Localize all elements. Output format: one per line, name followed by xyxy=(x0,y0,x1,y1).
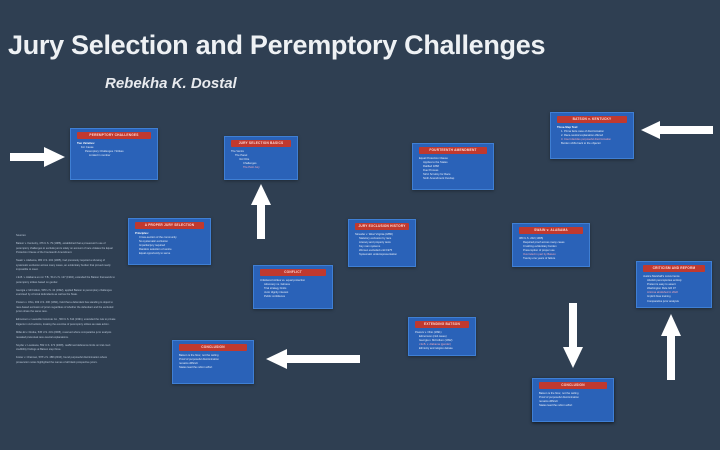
sources-text-block: Sources: Batson v. Kentucky, 476 U.S. 79… xyxy=(16,234,116,369)
card-line: The Petit Jury xyxy=(231,166,292,170)
sources-paragraph: Swain v. Alabama, 380 U.S. 202 (1965), h… xyxy=(16,259,116,273)
card-jury-selection-basics[interactable]: JURY SELECTION BASICS The VenireThe Pane… xyxy=(224,136,298,180)
card-swain-v-alabama[interactable]: SWAIN v. ALABAMA 380 U.S. 202 (1965)Requ… xyxy=(512,223,590,267)
card-title: CONCLUSION xyxy=(539,382,607,389)
author-name: Rebekha K. Dostal xyxy=(105,75,237,92)
arrow-into-peremptory-challenges xyxy=(10,146,66,168)
arrow-into-conflict xyxy=(265,348,361,370)
card-body: The VenireThe PanelVoir DireChallengesTh… xyxy=(225,149,297,174)
card-title: FOURTEENTH AMENDMENT xyxy=(419,147,487,154)
sources-paragraph: Batson v. Kentucky, 476 U.S. 79 (1986), … xyxy=(16,242,116,256)
card-body: Equal Protection ClauseApplies to the St… xyxy=(413,156,493,185)
card-title: CONCLUSION xyxy=(179,344,247,351)
card-batson-v-kentucky[interactable]: BATSON v. KENTUCKY Three-Step Test:1. Pr… xyxy=(550,112,634,159)
presentation-canvas[interactable]: Jury Selection and Peremptory Challenges… xyxy=(0,0,720,450)
card-body: 380 U.S. 202 (1965)Required proof across… xyxy=(513,236,589,265)
card-line: Comparative juror analysis xyxy=(643,300,706,304)
card-body: Strauder v. West Virginia (1880)Statutor… xyxy=(349,232,415,261)
card-title: CRITICISM AND REFORM xyxy=(643,265,705,272)
card-conflict[interactable]: CONFLICT Unfettered strikes vs. equal pr… xyxy=(253,265,333,309)
sources-paragraph: Snyder v. Louisiana, 552 U.S. 472 (2008)… xyxy=(16,344,116,353)
card-body: Batson is the floor, not the ceilingProo… xyxy=(173,353,253,374)
card-body: Justice Marshall's concurrenceAbolish pe… xyxy=(637,274,711,307)
sources-paragraph: Foster v. Chatman, 578 U.S. 488 (2016), … xyxy=(16,356,116,365)
sources-paragraph: J.E.B. v. Alabama ex rel. T.B., 511 U.S.… xyxy=(16,276,116,285)
arrow-up-to-jury-selection-basics xyxy=(250,184,272,240)
card-line: Public confidence xyxy=(260,295,327,299)
card-criticism-and-reform[interactable]: CRITICISM AND REFORM Justice Marshall's … xyxy=(636,261,712,308)
sources-heading: Sources: xyxy=(16,234,116,239)
card-line: Ethnicity and religion debate xyxy=(415,347,470,351)
arrow-up-to-criticism-and-reform xyxy=(660,313,682,381)
sources-paragraph: Georgia v. McCollum, 505 U.S. 42 (1992),… xyxy=(16,289,116,298)
card-title: BATSON v. KENTUCKY xyxy=(557,116,627,123)
arrow-into-batson-v-kentucky xyxy=(640,120,714,140)
card-body: Powers v. Ohio (1991)Edmonson (civil cas… xyxy=(409,330,475,355)
card-title: A PROPER JURY SELECTION xyxy=(135,222,204,229)
card-title: EXTENDING BATSON xyxy=(415,321,469,328)
card-body: Unfettered strikes vs. equal protectionA… xyxy=(254,278,332,303)
card-jury-exclusion-history[interactable]: JURY EXCLUSION HISTORY Strauder v. West … xyxy=(348,219,416,267)
card-body: Three-Step Test:1. Prima facie case of d… xyxy=(551,125,633,150)
card-line: Sixth Amendment Overlap xyxy=(419,177,488,181)
page-title: Jury Selection and Peremptory Challenges xyxy=(8,30,545,61)
card-body: Two Varieties:For CausePeremptory Challe… xyxy=(71,141,157,162)
card-line: Burden shifts back to the objector xyxy=(557,142,628,146)
card-body: Principles:Cross-section of the communit… xyxy=(129,231,210,260)
card-line: Twenty-one years of failure xyxy=(519,257,584,261)
card-fourteenth-amendment[interactable]: FOURTEENTH AMENDMENT Equal Protection Cl… xyxy=(412,143,494,190)
sources-paragraph: Powers v. Ohio, 499 U.S. 400 (1991), hel… xyxy=(16,301,116,315)
card-title: PEREMPTORY CHALLENGES xyxy=(77,132,151,139)
card-title: CONFLICT xyxy=(260,269,326,276)
card-line: States lead the reform effort xyxy=(539,404,608,408)
sources-paragraph: Edmonson v. Leesville Concrete Co., 500 … xyxy=(16,318,116,327)
card-title: JURY EXCLUSION HISTORY xyxy=(355,223,409,230)
arrow-down-to-conclusion xyxy=(562,303,584,369)
sources-paragraph: Miller-El v. Dretke, 545 U.S. 231 (2005)… xyxy=(16,331,116,340)
card-extending-batson[interactable]: EXTENDING BATSON Powers v. Ohio (1991)Ed… xyxy=(408,317,476,356)
card-title: SWAIN v. ALABAMA xyxy=(519,227,583,234)
card-body: Batson is the floor, not the ceilingProo… xyxy=(533,391,613,412)
card-peremptory-challenges[interactable]: PEREMPTORY CHALLENGES Two Varieties:For … xyxy=(70,128,158,180)
sources-paragraph-list: Batson v. Kentucky, 476 U.S. 79 (1986), … xyxy=(16,242,116,365)
card-line: Equal opportunity to serve xyxy=(135,252,205,256)
card-line: States lead the reform effort xyxy=(179,366,248,370)
card-conclusion-real[interactable]: CONCLUSION Batson is the floor, not the … xyxy=(532,378,614,422)
card-a-proper-jury-selection[interactable]: A PROPER JURY SELECTION Principles:Cross… xyxy=(128,218,211,265)
card-line: Limited in number xyxy=(77,154,152,158)
card-line: Systematic underrepresentation xyxy=(355,253,410,257)
card-cumulative-strike-tab[interactable]: CONCLUSION Batson is the floor, not the … xyxy=(172,340,254,384)
card-title: JURY SELECTION BASICS xyxy=(231,140,291,147)
